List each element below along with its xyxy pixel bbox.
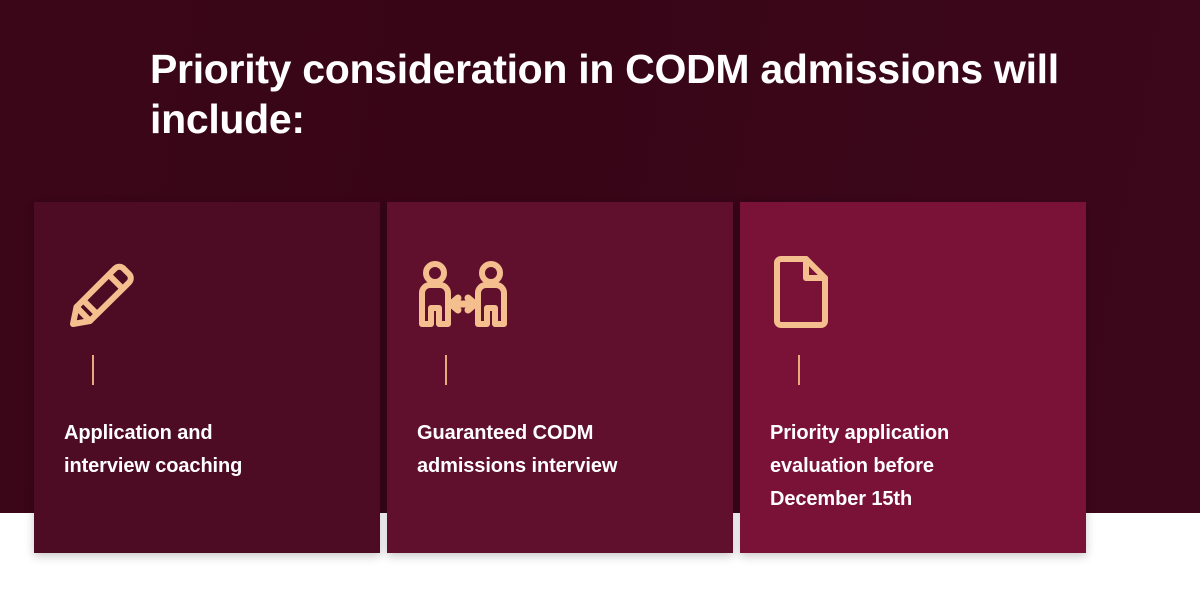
feature-card-row: Application and interview coaching Guara…	[34, 202, 1086, 553]
document-page-icon	[770, 256, 1056, 330]
feature-card-application-coaching[interactable]: Application and interview coaching	[34, 202, 380, 553]
feature-card-priority-evaluation[interactable]: Priority application evaluation before D…	[740, 202, 1086, 553]
card-divider	[798, 355, 800, 385]
feature-card-label: Application and interview coaching	[64, 417, 350, 483]
feature-card-label: Guaranteed CODM admissions interview	[417, 417, 703, 483]
feature-card-guaranteed-interview[interactable]: Guaranteed CODM admissions interview	[387, 202, 733, 553]
slide-root: Priority consideration in CODM admission…	[0, 0, 1200, 595]
two-people-handshake-icon	[417, 256, 703, 330]
card-divider	[92, 355, 94, 385]
card-divider	[445, 355, 447, 385]
feature-card-label: Priority application evaluation before D…	[770, 417, 1056, 516]
pencil-icon	[64, 256, 350, 330]
page-title: Priority consideration in CODM admission…	[150, 44, 1170, 144]
